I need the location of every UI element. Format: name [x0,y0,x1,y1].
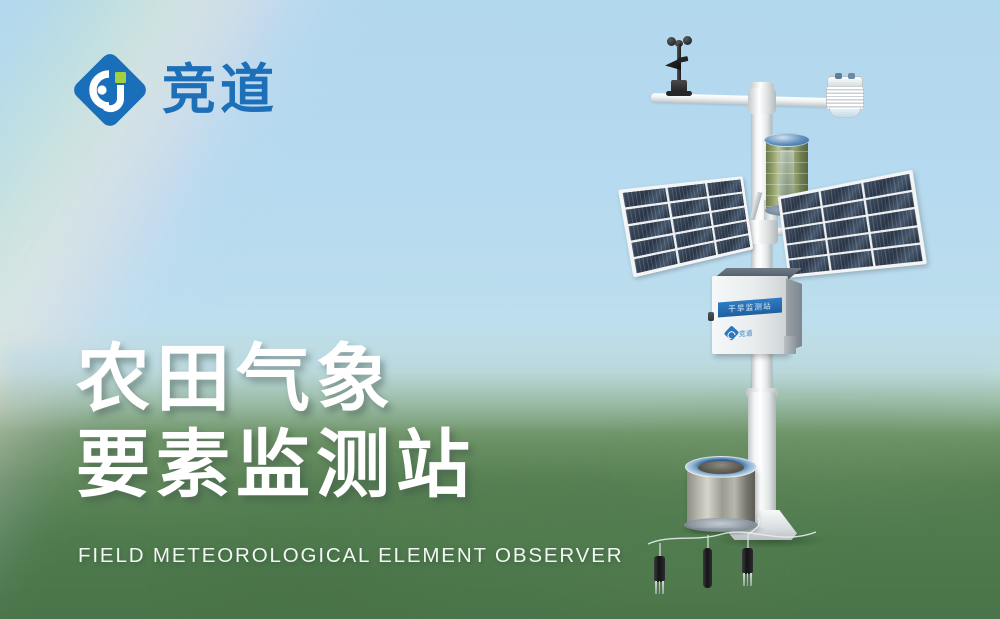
control-box-vent [784,336,796,354]
soil-sensor-cable-harness [630,512,820,612]
wind-vane-tail [678,56,689,63]
shield-bottom-ring [829,108,861,118]
control-box-label-text: 干旱监测站 [728,300,772,314]
cylinder-top-lid [764,133,810,147]
shield-plates [826,86,864,110]
solar-panel-left-icon [618,176,753,278]
rain-gauge-mouth [698,461,744,474]
wind-speed-direction-sensor-icon [659,28,699,96]
weather-station-illustration: 干旱监测站 竞道 [0,0,1000,619]
radiation-shield-sensor-icon [822,70,868,120]
wind-sensor-base [671,80,687,94]
control-box-brand-logo: 竞道 [726,326,753,339]
control-box-logo-text: 竞道 [739,326,753,337]
poster-canvas: 竞道 农田气象 要素监测站 FIELD METEOROLOGICAL ELEME… [0,0,1000,619]
crossarm-hub [748,88,776,114]
solar-cell [829,251,873,270]
solar-cell [874,245,923,266]
control-box-latch [708,312,714,321]
